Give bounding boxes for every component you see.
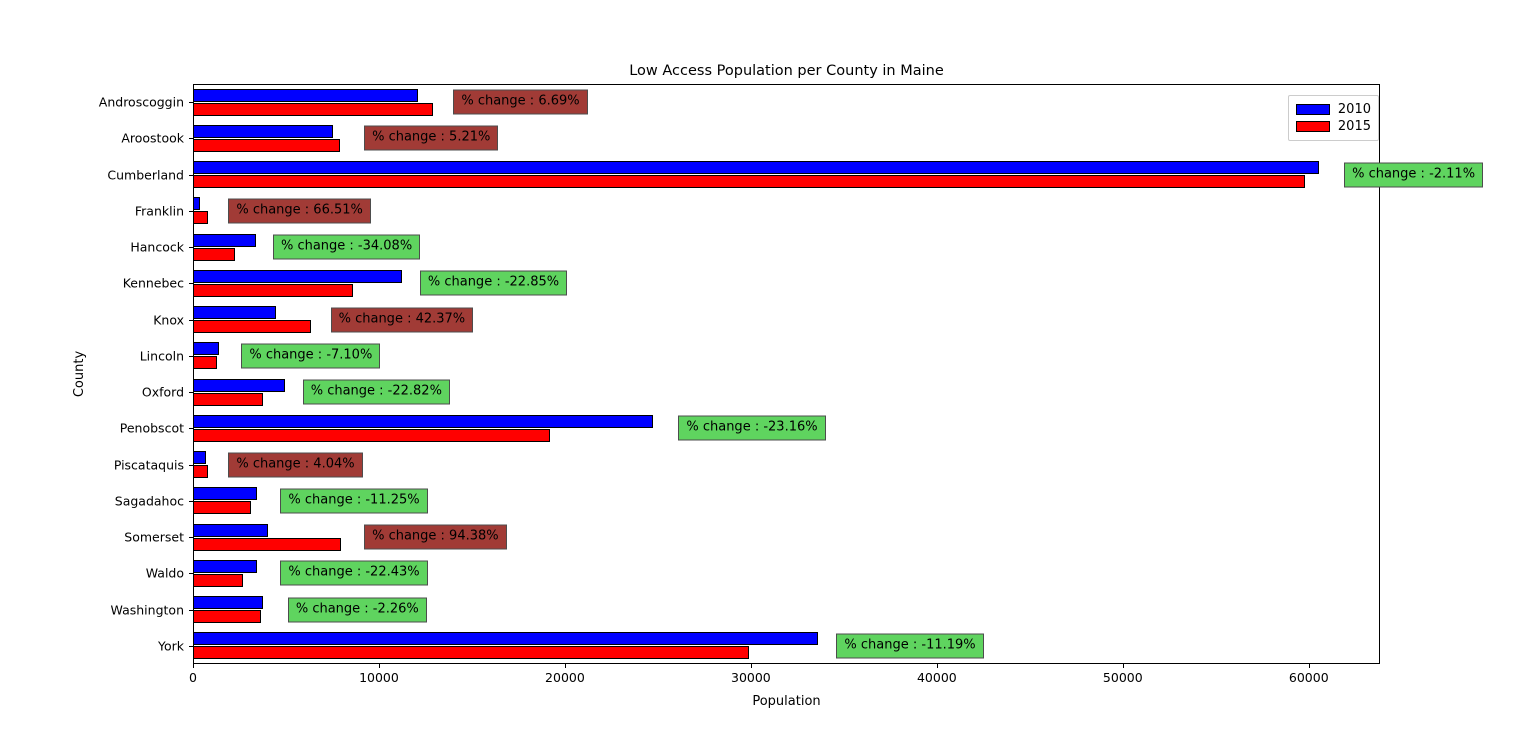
annotation-cumberland: % change : -2.11% [1344,162,1483,187]
bar-washington-2010 [193,596,263,609]
legend-label-2015: 2015 [1338,119,1371,134]
annotation-franklin: % change : 66.51% [228,198,371,223]
bar-cumberland-2010 [193,161,1319,174]
y-tick-label-aroostook: Aroostook [121,131,184,146]
x-tick-label: 40000 [917,670,957,685]
annotation-androscoggin: % change : 6.69% [453,90,587,115]
annotation-piscataquis: % change : 4.04% [228,452,362,477]
bar-lincoln-2015 [193,356,217,369]
x-tick-label: 10000 [359,670,399,685]
legend-label-2010: 2010 [1338,102,1371,117]
chart-legend[interactable]: 2010 2015 [1288,95,1379,141]
y-tick-label-washington: Washington [111,602,184,617]
bar-aroostook-2010 [193,125,333,138]
annotation-somerset: % change : 94.38% [364,525,507,550]
annotation-york: % change : -11.19% [836,633,983,658]
bar-waldo-2015 [193,574,243,587]
chart-title: Low Access Population per County in Main… [193,62,1380,80]
y-tick-label-cumberland: Cumberland [107,167,184,182]
y-tick-label-waldo: Waldo [146,566,184,581]
annotation-penobscot: % change : -23.16% [678,416,825,441]
annotation-oxford: % change : -22.82% [303,380,450,405]
bar-lincoln-2010 [193,342,219,355]
y-tick-label-sagadahoc: Sagadahoc [115,493,184,508]
y-tick-label-somerset: Somerset [124,530,184,545]
bar-sagadahoc-2015 [193,501,251,514]
legend-entry-2015[interactable]: 2015 [1296,118,1371,135]
y-tick-label-york: York [158,638,184,653]
bar-kennebec-2015 [193,284,353,297]
x-tick-mark [1309,664,1310,668]
bar-oxford-2010 [193,379,285,392]
y-tick-label-androscoggin: Androscoggin [99,95,184,110]
y-tick-label-piscataquis: Piscataquis [114,457,184,472]
bar-waldo-2010 [193,560,257,573]
y-tick-label-franklin: Franklin [135,203,184,218]
bar-cumberland-2015 [193,175,1305,188]
x-tick-label: 0 [189,670,197,685]
x-tick-label: 50000 [1103,670,1143,685]
bar-knox-2015 [193,320,311,333]
bar-somerset-2010 [193,524,268,537]
x-tick-label: 30000 [731,670,771,685]
y-tick-label-oxford: Oxford [142,385,184,400]
y-tick-label-knox: Knox [153,312,184,327]
x-tick-mark [565,664,566,668]
bar-androscoggin-2010 [193,89,418,102]
annotation-waldo: % change : -22.43% [280,561,427,586]
annotation-sagadahoc: % change : -11.25% [280,488,427,513]
legend-swatch-2015 [1296,121,1330,132]
bar-hancock-2010 [193,234,256,247]
y-axis-label: County [72,84,87,664]
matplotlib-figure: Low Access Population per County in Main… [0,0,1536,753]
y-tick-label-kennebec: Kennebec [123,276,184,291]
annotation-kennebec: % change : -22.85% [420,271,567,296]
bar-penobscot-2015 [193,429,550,442]
bar-washington-2015 [193,610,261,623]
bar-penobscot-2010 [193,415,653,428]
bar-androscoggin-2015 [193,103,433,116]
x-tick-mark [937,664,938,668]
x-tick-label: 60000 [1289,670,1329,685]
bar-piscataquis-2010 [193,451,206,464]
legend-swatch-2010 [1296,104,1330,115]
bar-sagadahoc-2010 [193,487,257,500]
bar-somerset-2015 [193,538,341,551]
annotation-hancock: % change : -34.08% [273,235,420,260]
legend-entry-2010[interactable]: 2010 [1296,101,1371,118]
annotation-lincoln: % change : -7.10% [241,343,380,368]
bar-oxford-2015 [193,393,263,406]
x-axis-label: Population [193,694,1380,709]
bar-york-2010 [193,632,818,645]
bar-aroostook-2015 [193,139,340,152]
bar-hancock-2015 [193,248,235,261]
bar-knox-2010 [193,306,276,319]
bar-york-2015 [193,646,749,659]
y-tick-label-hancock: Hancock [130,240,184,255]
x-tick-mark [751,664,752,668]
bar-franklin-2015 [193,211,208,224]
y-tick-label-lincoln: Lincoln [140,348,184,363]
x-tick-mark [1123,664,1124,668]
annotation-knox: % change : 42.37% [331,307,474,332]
bar-franklin-2010 [193,197,200,210]
bar-piscataquis-2015 [193,465,208,478]
annotation-washington: % change : -2.26% [288,597,427,622]
annotation-aroostook: % change : 5.21% [364,126,498,151]
y-tick-label-penobscot: Penobscot [120,421,184,436]
x-tick-mark [379,664,380,668]
x-tick-label: 20000 [545,670,585,685]
bar-kennebec-2010 [193,270,402,283]
x-tick-mark [193,664,194,668]
